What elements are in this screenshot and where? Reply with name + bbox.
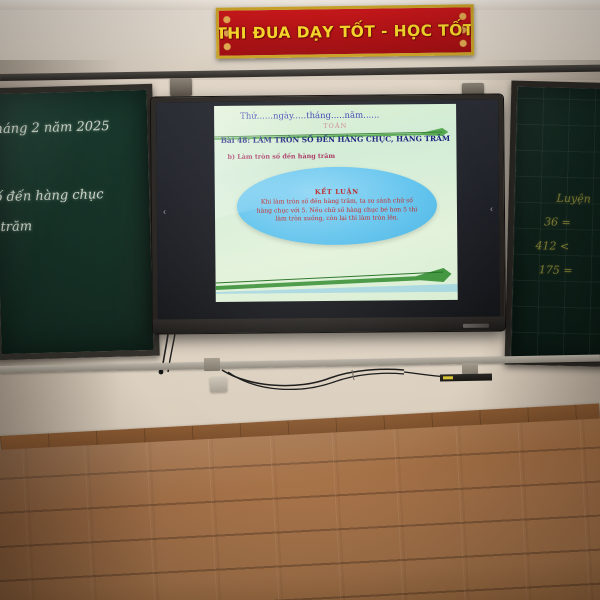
wall-socket[interactable] (210, 377, 228, 393)
conduit-label (440, 374, 492, 382)
motto-banner: THI ĐUA DẠY TỐT - HỌC TỐT (216, 4, 475, 59)
slide-section-heading: b) Làm tròn số đến hàng trăm (227, 152, 335, 161)
tv-bezel: ‹ ‹ Thứ......ngày.....tháng.....năm.....… (156, 100, 500, 320)
arrow-band-decoration (215, 266, 457, 294)
conclusion-heading: KẾT LUẬN (315, 188, 359, 196)
conclusion-oval: KẾT LUẬN Khi làm tròn số đến hàng trăm, … (237, 166, 438, 246)
slide-date-line: Thứ......ngày.....tháng.....năm...... (240, 111, 379, 122)
conduit-clip-left (204, 358, 220, 371)
blackboard-right-shadow (511, 87, 600, 362)
motto-banner-text: THI ĐUA DẠY TỐT - HỌC TỐT (216, 21, 474, 43)
slide-subject: TOÁN (214, 121, 456, 131)
smart-tv-display[interactable]: ‹ ‹ Thứ......ngày.....tháng.....năm.....… (151, 94, 505, 333)
slide-title: Bài 48: LÀM TRÒN SỐ ĐẾN HÀNG CHỤC, HÀNG … (214, 134, 456, 145)
rail-bracket-left (170, 78, 192, 96)
tv-brand-logo (463, 324, 489, 328)
conclusion-line-3: làm tròn xuống, còn lại thì làm tròn lên… (275, 215, 398, 225)
chevron-left-icon[interactable]: ‹ (163, 206, 166, 216)
chevron-right-icon[interactable]: ‹ (490, 203, 493, 213)
floor-shadow-left (0, 442, 170, 600)
blackboard-right: Luyện 36 = 412 < 175 = (505, 81, 600, 368)
presentation-slide: Thứ......ngày.....tháng.....năm...... TO… (214, 104, 458, 302)
classroom-photo: THI ĐUA DẠY TỐT - HỌC TỐT tháng 2 năm 20… (0, 0, 600, 600)
blackboard-left: tháng 2 năm 2025 n số đến hàng chục g tr… (0, 84, 160, 360)
chalk-line-topic-2: g trăm (0, 219, 32, 235)
